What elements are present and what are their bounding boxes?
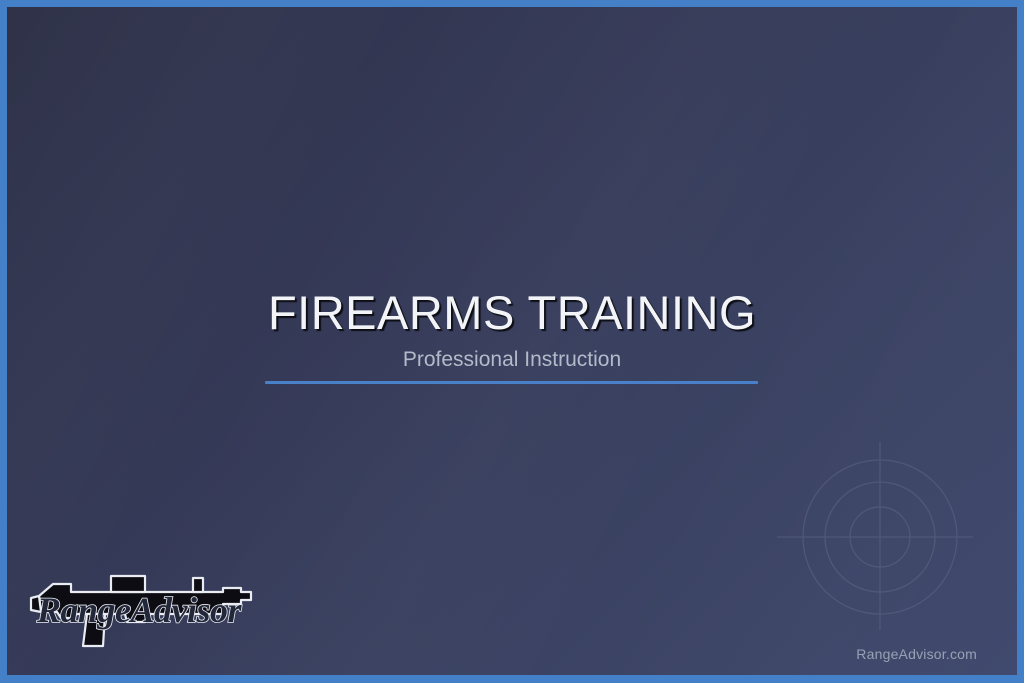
slide-canvas: FIREARMS TRAINING Professional Instructi… bbox=[7, 7, 1017, 675]
title-block: FIREARMS TRAINING Professional Instructi… bbox=[7, 289, 1017, 370]
presentation-slide: FIREARMS TRAINING Professional Instructi… bbox=[0, 0, 1024, 683]
page-subtitle: Professional Instruction bbox=[7, 349, 1017, 370]
brand-logo: RangeAdvisor bbox=[27, 562, 272, 652]
crosshair-target-icon bbox=[773, 430, 973, 630]
page-title: FIREARMS TRAINING bbox=[7, 289, 1017, 336]
footer-url: RangeAdvisor.com bbox=[856, 646, 977, 662]
accent-divider bbox=[265, 381, 758, 384]
logo-wordmark: RangeAdvisor bbox=[37, 592, 269, 628]
